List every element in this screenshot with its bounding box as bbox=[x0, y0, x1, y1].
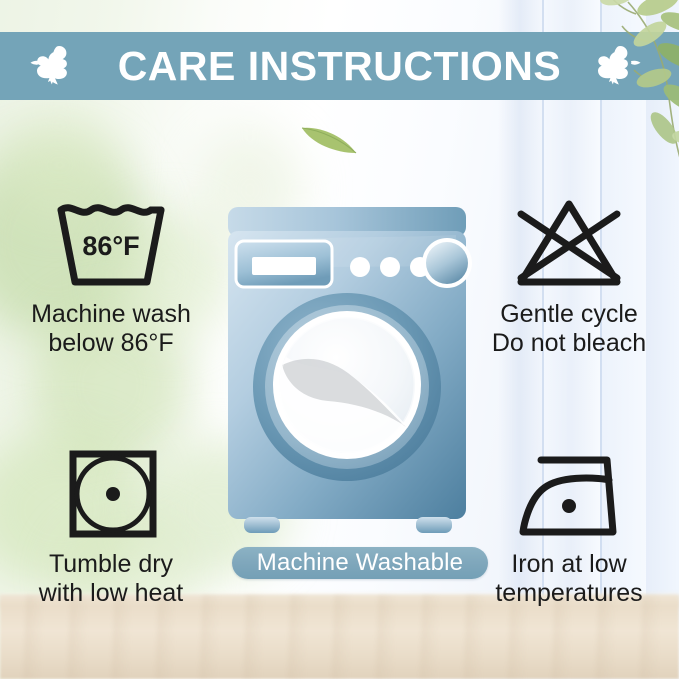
do-not-bleach-triangle-icon bbox=[513, 198, 625, 290]
fleur-de-lis-icon bbox=[589, 42, 651, 90]
care-item-tumble-dry: Tumble dry with low heat bbox=[6, 448, 216, 608]
care-item-machine-wash: 86°F Machine wash below 86°F bbox=[6, 198, 216, 358]
care-item-gentle-cycle-no-bleach: Gentle cycle Do not bleach bbox=[464, 198, 674, 358]
badge-label: Machine Washable bbox=[257, 549, 463, 577]
iron-low-heat-icon bbox=[513, 448, 625, 540]
page-title: CARE INSTRUCTIONS bbox=[118, 43, 562, 90]
wash-tub-icon: 86°F bbox=[55, 198, 167, 290]
tumble-dry-low-icon bbox=[55, 448, 167, 540]
care-label: Iron at low temperatures bbox=[464, 550, 674, 608]
header-banner: CARE INSTRUCTIONS bbox=[0, 32, 679, 100]
care-label: Tumble dry with low heat bbox=[6, 550, 216, 608]
washing-machine-illustration bbox=[222, 205, 472, 540]
care-label: Gentle cycle Do not bleach bbox=[464, 300, 674, 358]
care-label: Machine wash below 86°F bbox=[6, 300, 216, 358]
wash-temperature-value: 86°F bbox=[82, 231, 139, 261]
care-item-iron-low: Iron at low temperatures bbox=[464, 448, 674, 608]
machine-washable-badge: Machine Washable bbox=[232, 547, 488, 579]
falling-leaf-icon bbox=[300, 122, 358, 156]
fleur-de-lis-icon bbox=[28, 42, 90, 90]
care-instructions-graphic: CARE INSTRUCTIONS bbox=[0, 0, 679, 679]
